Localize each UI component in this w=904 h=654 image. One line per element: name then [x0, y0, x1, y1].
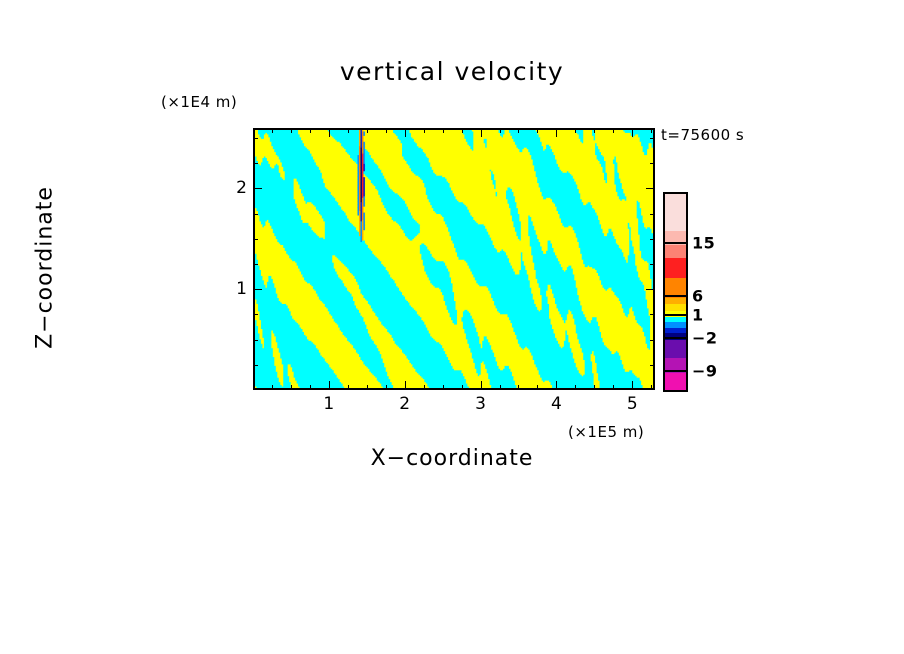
x-tick	[424, 128, 425, 133]
y-tick	[650, 264, 655, 265]
x-tick	[462, 385, 463, 390]
x-tick	[613, 385, 614, 390]
colorbar-band	[665, 340, 686, 357]
y-tick	[650, 163, 655, 164]
x-tick	[481, 128, 482, 137]
x-tick	[329, 128, 330, 137]
x-tick	[632, 381, 633, 390]
y-tick	[646, 188, 655, 189]
y-tick	[650, 365, 655, 366]
x-tick	[537, 128, 538, 133]
x-tick	[386, 385, 387, 390]
x-tick	[329, 381, 330, 390]
x-tick	[405, 128, 406, 137]
x-tick	[386, 128, 387, 133]
x-tick-label: 5	[627, 394, 638, 414]
x-tick	[594, 128, 595, 133]
x-tick	[575, 128, 576, 133]
colorbar-tick	[663, 370, 688, 372]
x-tick	[272, 385, 273, 390]
colorbar-label: −9	[692, 361, 718, 380]
y-tick-label: 2	[223, 178, 247, 198]
x-tick	[348, 385, 349, 390]
x-tick-label: 4	[551, 394, 562, 414]
x-tick	[405, 381, 406, 390]
y-tick	[253, 138, 258, 139]
page-title: vertical velocity	[0, 57, 904, 86]
colorbar-tick	[663, 242, 688, 244]
y-tick	[253, 264, 258, 265]
y-tick	[650, 214, 655, 215]
x-tick-label: 1	[323, 394, 334, 414]
x-tick	[310, 128, 311, 133]
colorbar[interactable]	[663, 192, 688, 392]
x-tick	[556, 128, 557, 137]
y-tick	[253, 239, 258, 240]
x-axis-unit-label: (×1E5 m)	[568, 423, 644, 441]
x-tick	[291, 385, 292, 390]
x-tick	[367, 385, 368, 390]
y-tick	[646, 289, 655, 290]
colorbar-band	[665, 194, 686, 231]
y-tick-label: 1	[223, 279, 247, 299]
timestamp-annotation: t=75600 s	[661, 126, 744, 144]
x-tick	[518, 128, 519, 133]
y-tick	[253, 163, 258, 164]
x-tick	[613, 128, 614, 133]
x-tick	[481, 381, 482, 390]
x-tick	[310, 385, 311, 390]
x-tick	[500, 385, 501, 390]
x-tick	[291, 128, 292, 133]
x-tick	[443, 385, 444, 390]
y-tick	[253, 340, 258, 341]
y-tick	[253, 289, 262, 290]
x-tick	[272, 128, 273, 133]
x-tick	[537, 385, 538, 390]
y-axis-title: Z−coordinate	[33, 158, 58, 378]
x-tick	[651, 128, 652, 133]
x-tick	[424, 385, 425, 390]
x-tick	[443, 128, 444, 133]
y-tick	[253, 314, 258, 315]
y-tick	[253, 365, 258, 366]
y-tick	[650, 239, 655, 240]
colorbar-label: 1	[692, 305, 704, 324]
x-tick-label: 3	[475, 394, 486, 414]
colorbar-label: 15	[692, 233, 715, 252]
y-axis-unit-label: (×1E4 m)	[161, 93, 237, 111]
x-tick-label: 2	[399, 394, 410, 414]
x-tick	[367, 128, 368, 133]
x-tick	[594, 385, 595, 390]
y-tick	[650, 138, 655, 139]
y-tick	[253, 188, 262, 189]
x-tick	[348, 128, 349, 133]
y-tick	[650, 314, 655, 315]
contour-plot-area[interactable]	[253, 128, 655, 390]
colorbar-tick	[663, 314, 688, 316]
y-tick	[253, 214, 258, 215]
colorbar-tick	[663, 337, 688, 339]
x-tick	[575, 385, 576, 390]
x-tick	[500, 128, 501, 133]
x-tick	[651, 385, 652, 390]
colorbar-band	[665, 245, 686, 259]
colorbar-band	[665, 258, 686, 278]
x-tick	[518, 385, 519, 390]
x-axis-title: X−coordinate	[0, 446, 904, 471]
colorbar-label: 6	[692, 287, 704, 306]
x-tick	[632, 128, 633, 137]
y-tick	[650, 340, 655, 341]
x-tick	[462, 128, 463, 133]
colorbar-tick	[663, 295, 688, 297]
colorbar-label: −2	[692, 329, 718, 348]
colorbar-band	[665, 373, 686, 390]
contour-field	[255, 130, 653, 388]
x-tick	[556, 381, 557, 390]
